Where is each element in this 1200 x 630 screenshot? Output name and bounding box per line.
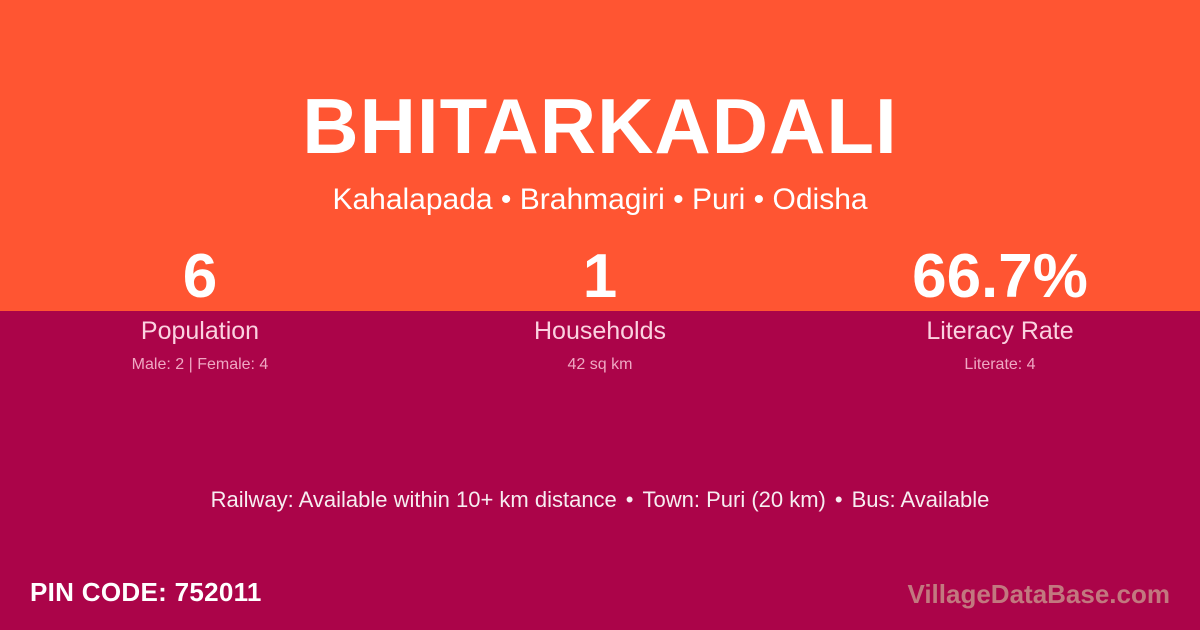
transport-railway: Railway: Available within 10+ km distanc… — [211, 487, 617, 512]
transport-separator-1: • — [617, 487, 643, 512]
village-info-card: BHITARKADALI Kahalapada • Brahmagiri • P… — [0, 0, 1200, 630]
stat-population-breakdown: Male: 2 | Female: 4 — [0, 355, 400, 374]
stats-row: 6 Population Male: 2 | Female: 4 1 House… — [0, 244, 1200, 374]
stat-households-value: 1 — [400, 244, 800, 310]
stat-households-label: Households — [400, 317, 800, 346]
transport-separator-2: • — [826, 487, 852, 512]
stat-literacy-value: 66.7% — [800, 244, 1200, 310]
stat-literate-count: Literate: 4 — [800, 355, 1200, 374]
transport-info: Railway: Available within 10+ km distanc… — [0, 486, 1200, 514]
stat-households: 1 Households 42 sq km — [400, 244, 800, 374]
pin-code: PIN CODE: 752011 — [30, 576, 262, 608]
stat-population-label: Population — [0, 317, 400, 346]
page-title: BHITARKADALI — [0, 82, 1200, 170]
stat-literacy-label: Literacy Rate — [800, 317, 1200, 346]
stat-population-value: 6 — [0, 244, 400, 310]
transport-bus: Bus: Available — [852, 487, 990, 512]
stat-literacy: 66.7% Literacy Rate Literate: 4 — [800, 244, 1200, 374]
stat-population: 6 Population Male: 2 | Female: 4 — [0, 244, 400, 374]
stat-area-value: 42 sq km — [400, 355, 800, 374]
location-breadcrumb: Kahalapada • Brahmagiri • Puri • Odisha — [0, 182, 1200, 218]
site-branding: VillageDataBase.com — [907, 578, 1170, 610]
transport-town: Town: Puri (20 km) — [643, 487, 826, 512]
